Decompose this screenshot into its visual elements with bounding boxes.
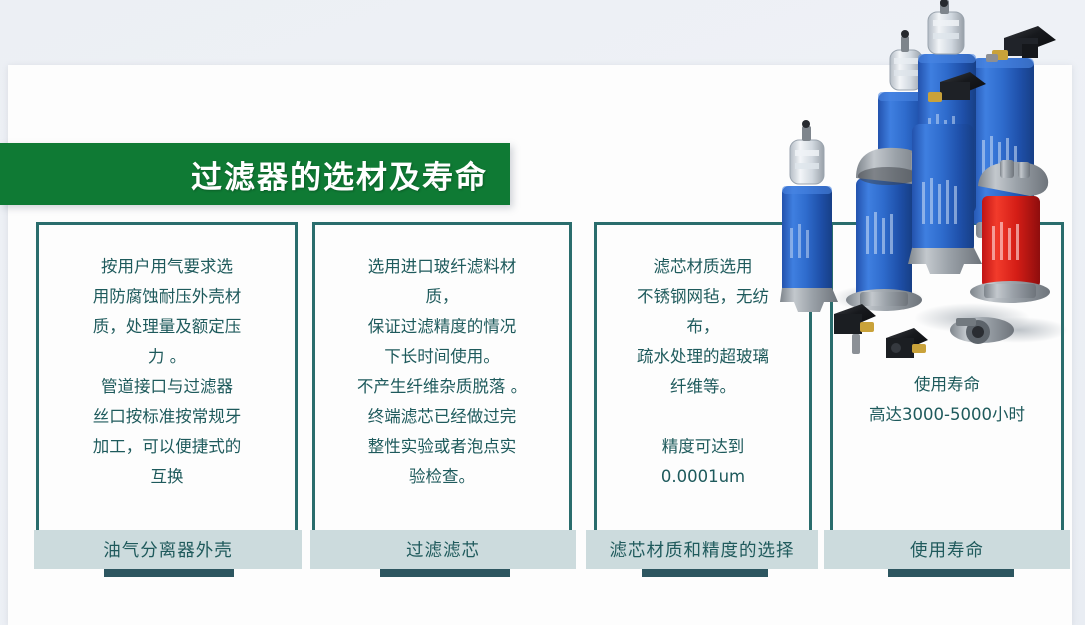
page-title: 过滤器的选材及寿命 — [191, 152, 488, 197]
column-body-text: 按用户用气要求选 用防腐蚀耐压外壳材 质，处理量及额定压 力 。 管道接口与过滤… — [36, 222, 298, 492]
info-columns: 按用户用气要求选 用防腐蚀耐压外壳材 质，处理量及额定压 力 。 管道接口与过滤… — [0, 0, 1085, 625]
column-label-oil-gas-separator-shell[interactable]: 油气分离器外壳 — [34, 530, 302, 569]
column-label-service-life[interactable]: 使用寿命 — [824, 530, 1070, 569]
column-body-text: 使用寿命 高达3000-5000小时 — [830, 222, 1064, 430]
column-label-material-and-precision[interactable]: 滤芯材质和精度的选择 — [586, 530, 818, 569]
column-accent-bar — [888, 569, 1014, 577]
column-accent-bar — [104, 569, 234, 577]
column-accent-bar — [642, 569, 768, 577]
column-body-text: 滤芯材质选用 不锈钢网毡，无纺 布， 疏水处理的超玻璃 纤维等。 精度可达到 0… — [594, 222, 812, 492]
column-accent-bar — [380, 569, 510, 577]
column-body-text: 选用进口玻纤滤料材 质， 保证过滤精度的情况 下长时间使用。 不产生纤维杂质脱落… — [312, 222, 572, 492]
column-label-filter-element[interactable]: 过滤滤芯 — [310, 530, 576, 569]
page-title-banner: 过滤器的选材及寿命 — [0, 143, 510, 205]
